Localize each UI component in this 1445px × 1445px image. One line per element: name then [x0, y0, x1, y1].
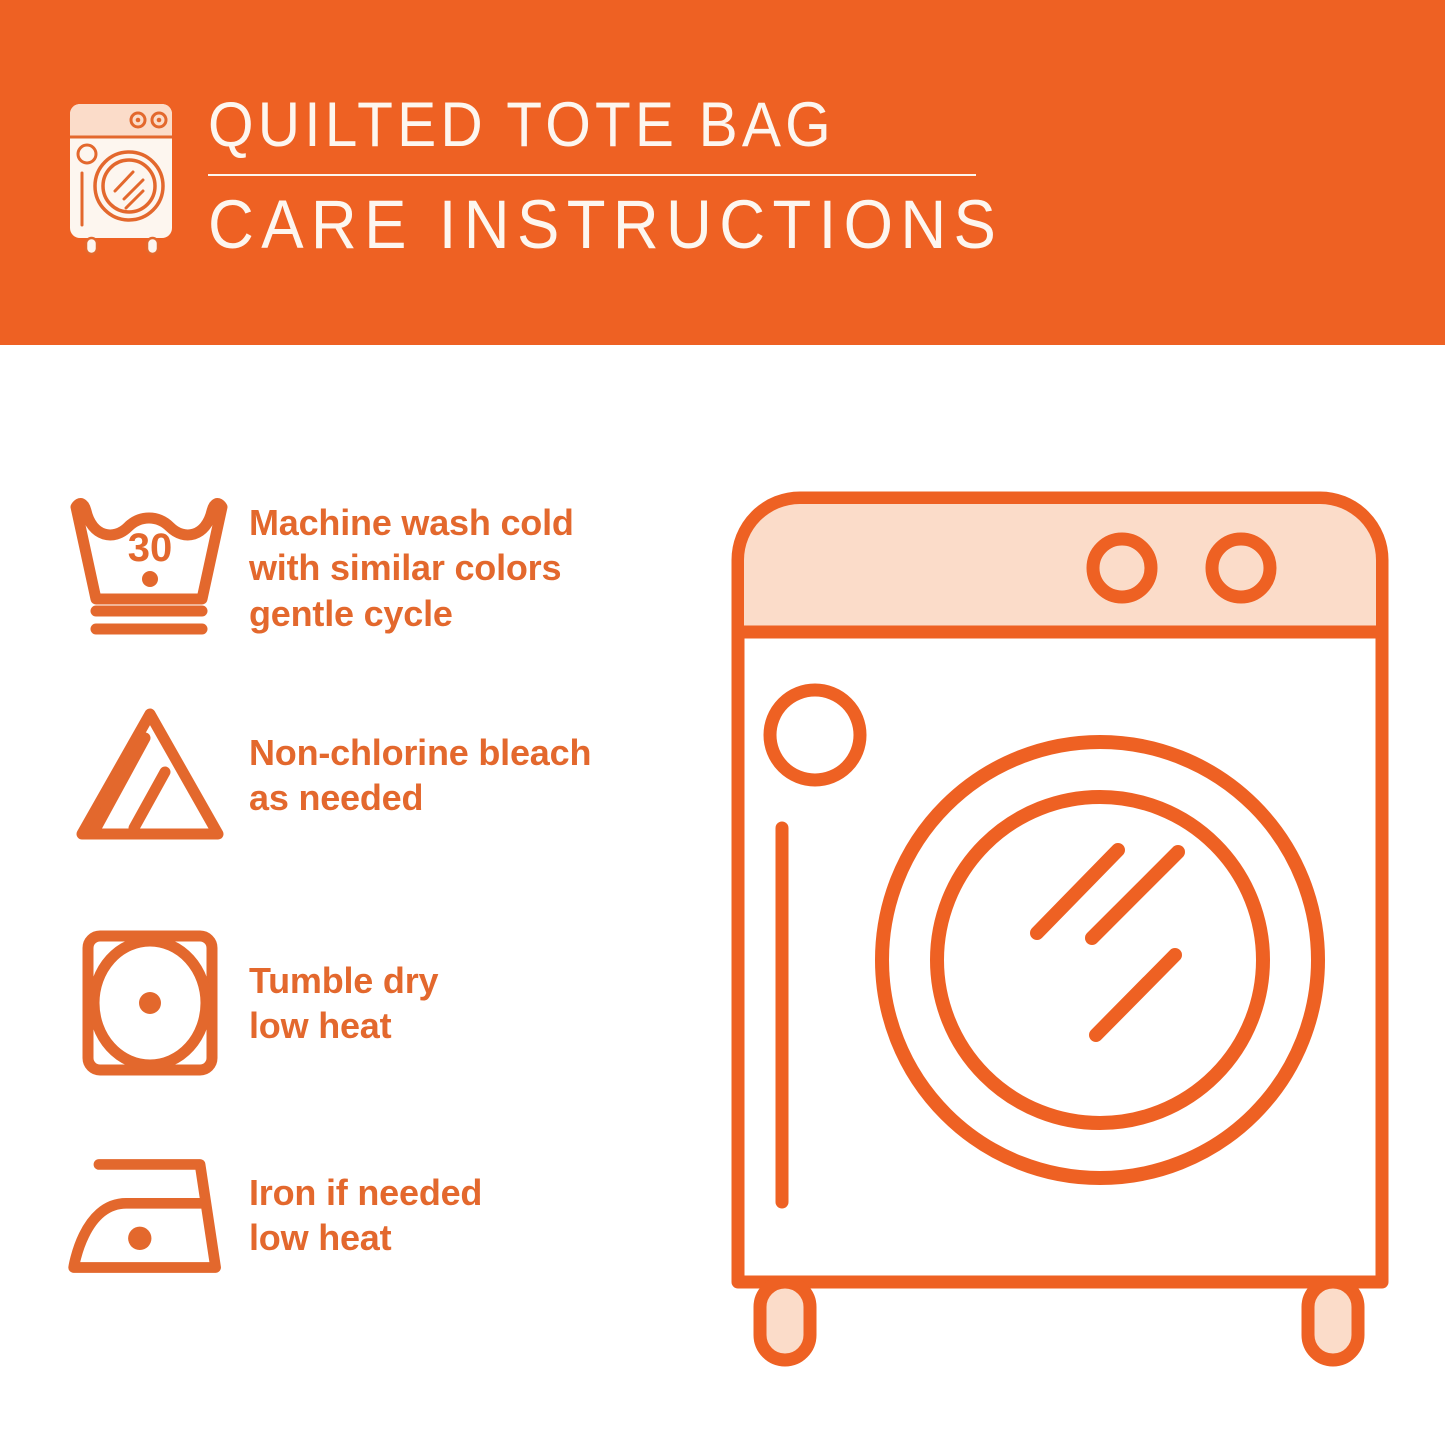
header-title-group: QUILTED TOTE BAG CARE INSTRUCTIONS — [208, 92, 1072, 259]
care-instruction-item: Tumble dry low heat — [62, 928, 682, 1078]
care-instruction-text: Machine wash cold with similar colors ge… — [249, 500, 574, 636]
care-instruction-item: Iron if needed low heat — [62, 1145, 682, 1285]
control-panel — [744, 504, 1376, 632]
care-text-line: low heat — [249, 1003, 438, 1048]
care-instruction-text: Tumble dry low heat — [249, 958, 438, 1049]
machine-leg — [1308, 1282, 1358, 1360]
care-instruction-text: Iron if needed low heat — [249, 1170, 482, 1261]
washing-machine-icon — [62, 98, 180, 258]
header-content: QUILTED TOTE BAG CARE INSTRUCTIONS — [62, 92, 1072, 259]
page-title: CARE INSTRUCTIONS — [208, 190, 1003, 259]
machine-leg — [760, 1282, 810, 1360]
care-text-line: with similar colors — [249, 545, 574, 590]
iron-low-heat-icon — [62, 1145, 237, 1285]
care-instruction-item: Non-chlorine bleach as needed — [62, 700, 682, 850]
care-text-line: as needed — [249, 775, 591, 820]
non-chlorine-bleach-triangle-icon — [62, 700, 237, 850]
header-banner: QUILTED TOTE BAG CARE INSTRUCTIONS — [0, 0, 1445, 345]
wash-temperature-value: 30 — [127, 526, 172, 570]
tumble-dry-low-icon — [62, 928, 237, 1078]
care-text-line: Iron if needed — [249, 1170, 482, 1215]
product-title: QUILTED TOTE BAG — [208, 94, 1012, 157]
care-text-line: low heat — [249, 1215, 482, 1260]
washing-machine-illustration — [700, 460, 1420, 1390]
care-text-line: Machine wash cold — [249, 500, 574, 545]
care-instruction-item: 30 Machine wash cold with similar colors… — [62, 493, 682, 643]
care-text-line: Tumble dry — [249, 958, 438, 1003]
title-divider — [208, 174, 976, 176]
care-instruction-text: Non-chlorine bleach as needed — [249, 730, 591, 821]
wash-tub-30-gentle-icon: 30 — [62, 493, 237, 643]
care-instruction-list: 30 Machine wash cold with similar colors… — [0, 345, 722, 1445]
care-text-line: gentle cycle — [249, 591, 574, 636]
care-text-line: Non-chlorine bleach — [249, 730, 591, 775]
